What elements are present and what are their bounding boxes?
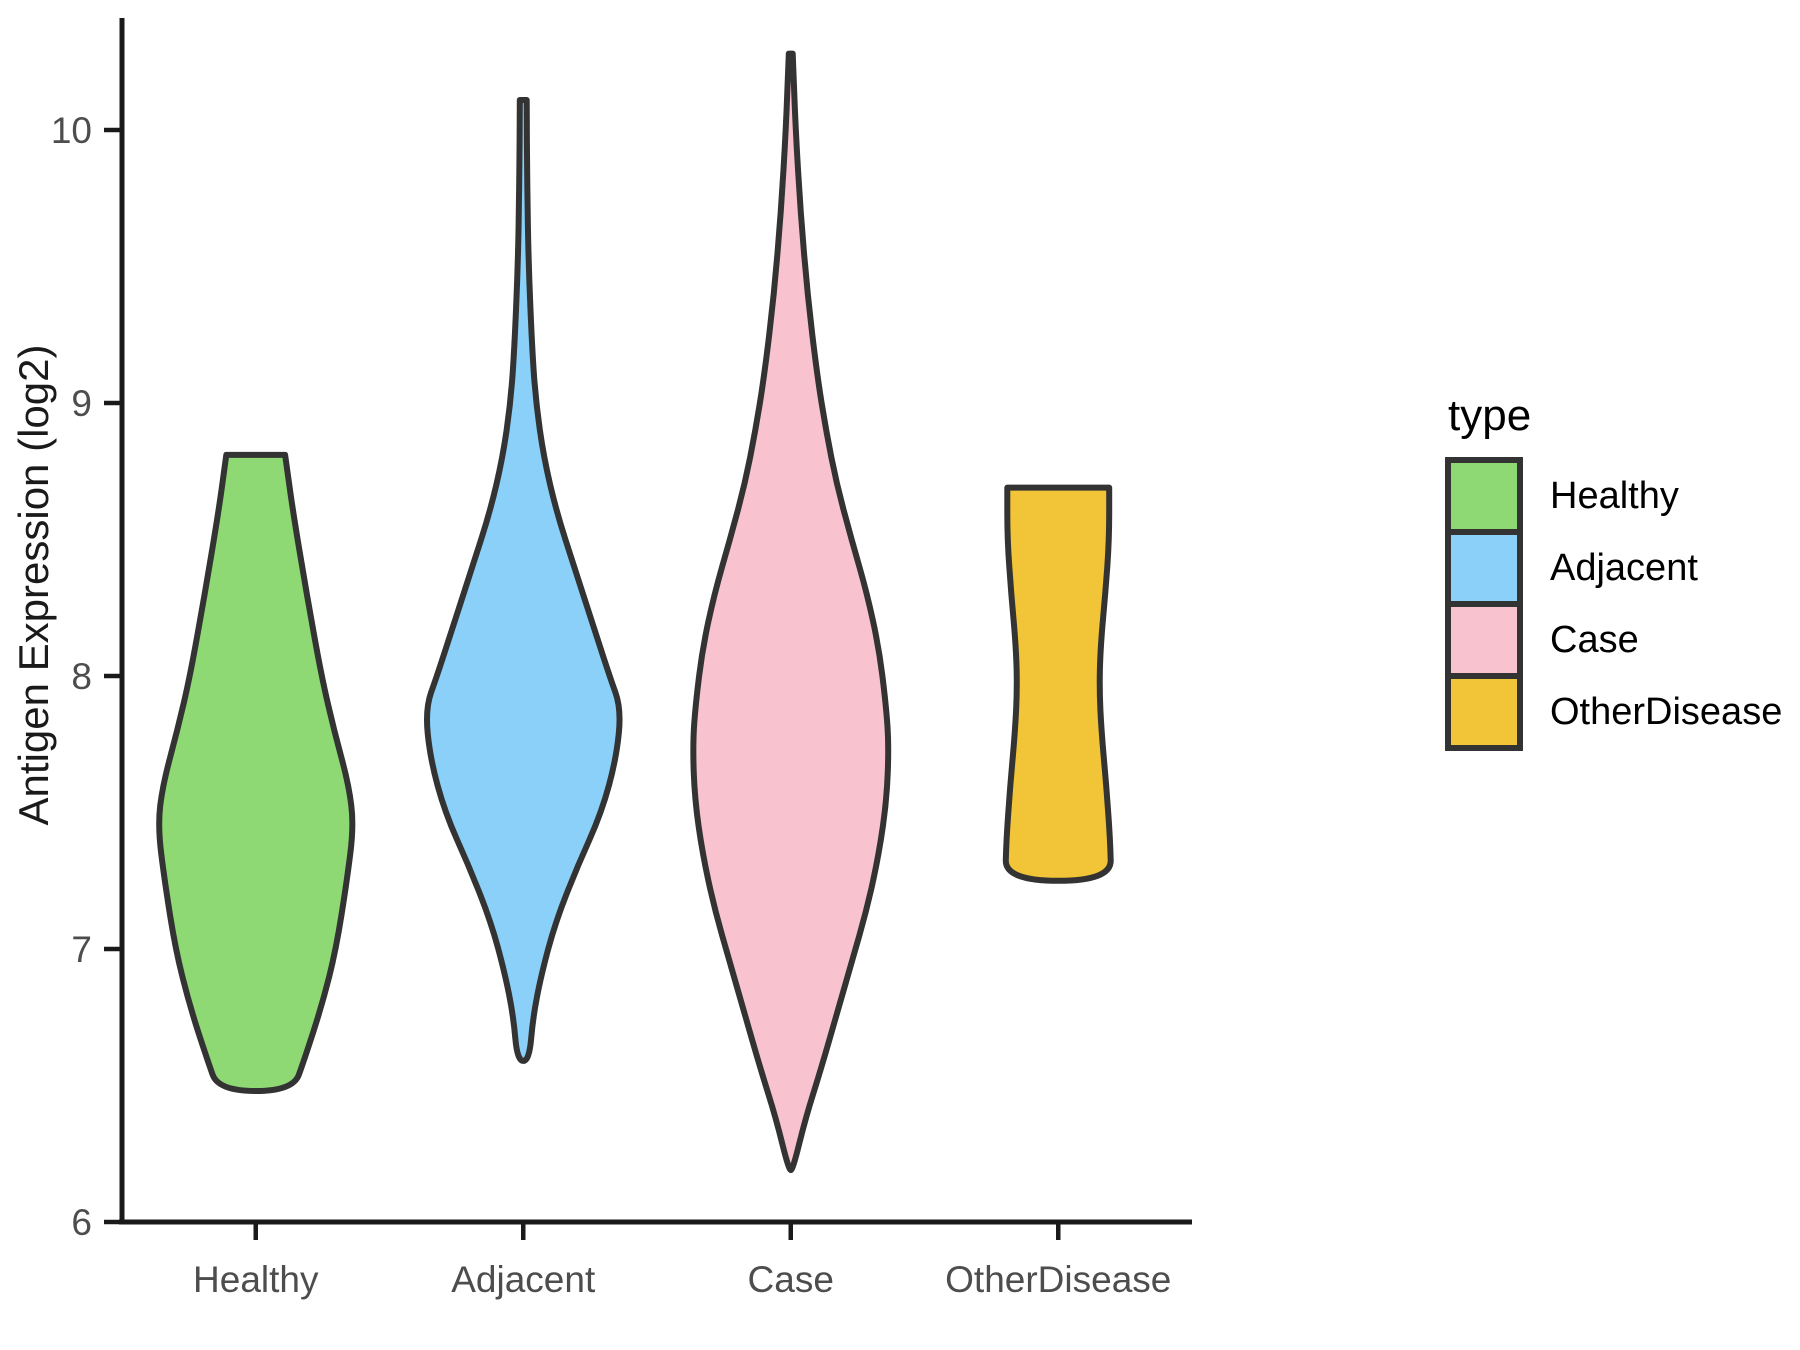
x-axis-ticks [256, 1222, 1059, 1240]
legend: type HealthyAdjacentCaseOtherDisease [1448, 391, 1782, 748]
violin-series-group [159, 54, 1110, 1171]
legend-swatch-case[interactable] [1448, 604, 1520, 676]
x-tick-label-case: Case [748, 1259, 834, 1300]
y-axis-tick-labels: 109876 [51, 110, 92, 1243]
x-tick-label-healthy: Healthy [193, 1259, 319, 1300]
violin-case [693, 54, 888, 1171]
y-tick-label-9: 9 [71, 383, 92, 424]
legend-swatch-healthy[interactable] [1448, 460, 1520, 532]
plot-canvas: 109876 HealthyAdjacentCaseOtherDisease A… [0, 0, 1800, 1350]
legend-swatch-adjacent[interactable] [1448, 532, 1520, 604]
y-tick-label-6: 6 [71, 1202, 92, 1243]
legend-items-group: HealthyAdjacentCaseOtherDisease [1448, 460, 1782, 748]
legend-title: type [1448, 391, 1531, 440]
y-axis-title: Antigen Expression (log2) [10, 345, 57, 826]
legend-swatch-otherdisease[interactable] [1448, 676, 1520, 748]
violin-healthy [159, 455, 352, 1091]
violin-adjacent [427, 100, 620, 1061]
legend-label-adjacent: Adjacent [1550, 547, 1698, 589]
y-tick-label-7: 7 [71, 929, 92, 970]
x-tick-label-otherdisease: OtherDisease [945, 1259, 1171, 1300]
violin-otherdisease [1006, 488, 1111, 881]
y-axis-ticks [104, 130, 122, 1222]
x-tick-label-adjacent: Adjacent [451, 1259, 596, 1300]
legend-label-otherdisease: OtherDisease [1550, 691, 1782, 733]
y-tick-label-8: 8 [71, 656, 92, 697]
y-tick-label-10: 10 [51, 110, 92, 151]
legend-label-case: Case [1550, 619, 1639, 661]
violin-plot-figure: 109876 HealthyAdjacentCaseOtherDisease A… [0, 0, 1800, 1350]
x-axis-tick-labels: HealthyAdjacentCaseOtherDisease [193, 1259, 1171, 1300]
legend-label-healthy: Healthy [1550, 475, 1679, 517]
